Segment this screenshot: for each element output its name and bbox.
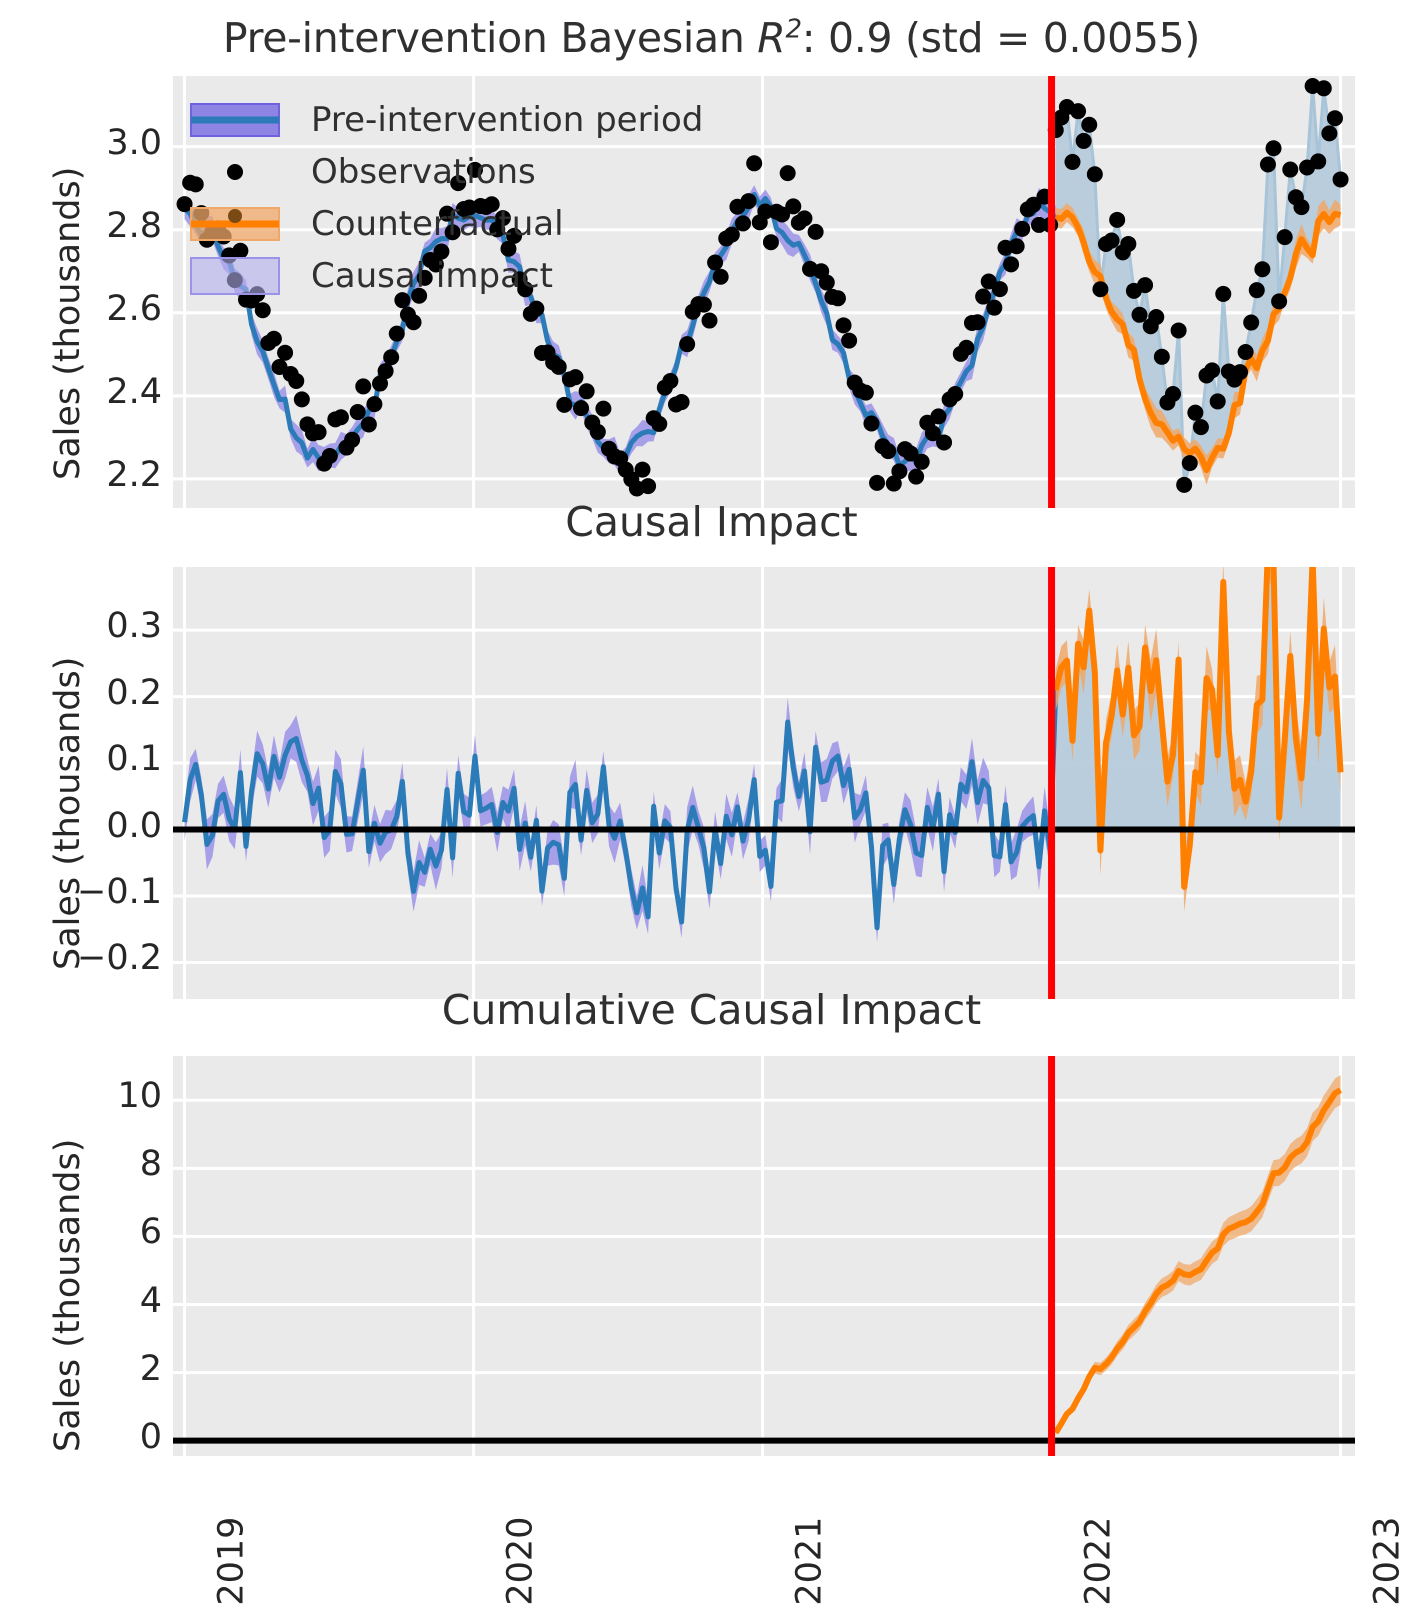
ytick-2-1: 2 — [40, 1349, 162, 1389]
figure-title: Pre-intervention Bayesian R2: 0.9 (std =… — [0, 14, 1423, 62]
ytick-0-4: 3.0 — [40, 123, 162, 163]
ytick-2-5: 10 — [40, 1076, 162, 1116]
xtick-1: 2020 — [500, 1517, 540, 1606]
xtick-4: 2023 — [1367, 1517, 1407, 1606]
panel1-plot-area: Pre-intervention periodObservationsCount… — [173, 76, 1355, 508]
panel3-plot-area — [173, 1056, 1355, 1456]
legend-label-2: Counterfactual — [311, 204, 564, 244]
xtick-0: 2019 — [211, 1517, 251, 1606]
figure-title-suffix: : 0.9 (std = 0.0055) — [802, 14, 1200, 62]
xtick-2: 2021 — [789, 1517, 829, 1606]
ytick-1-1: −0.1 — [40, 872, 162, 912]
panel2-plot-area — [173, 567, 1355, 999]
ytick-2-2: 4 — [40, 1281, 162, 1321]
ytick-1-3: 0.1 — [40, 739, 162, 779]
ytick-1-0: −0.2 — [40, 938, 162, 978]
ytick-0-2: 2.6 — [40, 289, 162, 329]
ytick-2-4: 8 — [40, 1144, 162, 1184]
legend-label-0: Pre-intervention period — [311, 100, 703, 140]
figure-title-exponent: 2 — [785, 14, 801, 44]
panel3-title: Cumulative Causal Impact — [0, 986, 1423, 1034]
ytick-0-3: 2.8 — [40, 206, 162, 246]
ytick-2-3: 6 — [40, 1212, 162, 1252]
ytick-0-0: 2.2 — [40, 455, 162, 495]
panel2-title: Causal Impact — [0, 498, 1423, 546]
ytick-1-4: 0.2 — [40, 673, 162, 713]
xtick-3: 2022 — [1078, 1517, 1118, 1606]
ytick-0-1: 2.4 — [40, 372, 162, 412]
ytick-2-0: 0 — [40, 1417, 162, 1457]
legend-label-1: Observations — [311, 152, 536, 192]
figure-title-prefix: Pre-intervention Bayesian — [223, 14, 757, 62]
legend-label-3: Causal impact — [311, 256, 553, 296]
ytick-1-2: 0.0 — [40, 806, 162, 846]
figure-title-r: R — [757, 14, 785, 62]
ytick-1-5: 0.3 — [40, 606, 162, 646]
causal-impact-figure: Pre-intervention Bayesian R2: 0.9 (std =… — [0, 0, 1423, 1623]
